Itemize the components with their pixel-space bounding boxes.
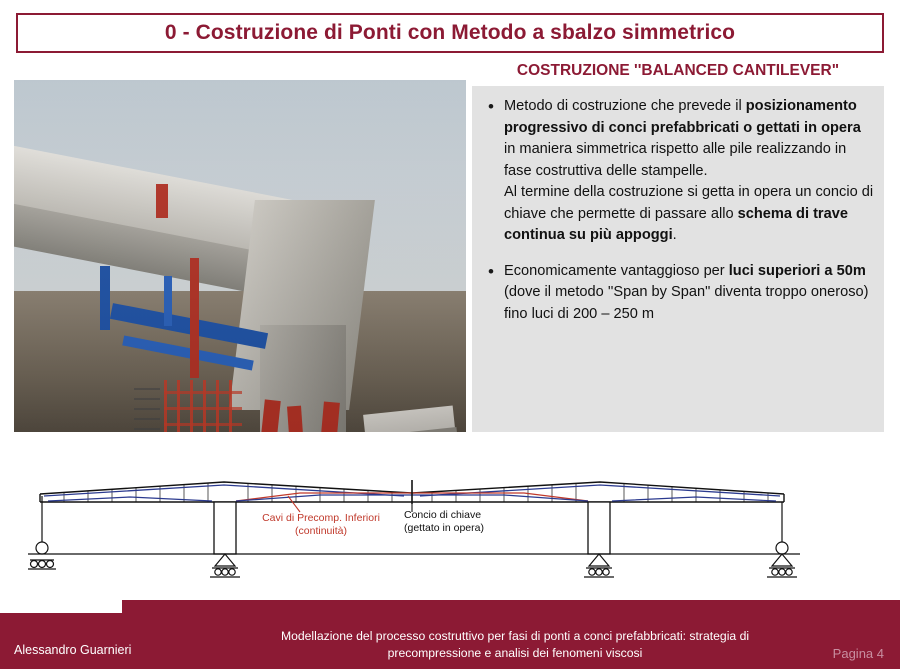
bullet-text: Economicamente vantaggioso per luci supe…	[504, 261, 874, 326]
footer-author-bar	[0, 613, 122, 669]
panel-heading: COSTRUZIONE ''BALANCED CANTILEVER"	[472, 62, 884, 80]
description-panel: •Metodo di costruzione che prevede il po…	[472, 86, 884, 432]
bullet-text-run: Economicamente vantaggioso per	[504, 263, 729, 279]
bullet-text-run: Metodo di costruzione che prevede il	[504, 98, 746, 114]
bullet-text-run: (dove il metodo ''Span by Span" diventa …	[504, 284, 868, 322]
construction-photo	[14, 80, 466, 432]
cable-label-line2: (continuità)	[295, 525, 347, 537]
photo-overlay	[14, 80, 466, 432]
page-title: 0 - Costruzione di Ponti con Metodo a sb…	[165, 21, 735, 45]
bullet-text-emphasis: luci superiori a 50m	[729, 263, 866, 279]
support-pier-left	[210, 554, 240, 577]
footer-author: Alessandro Guarnieri	[14, 643, 131, 657]
key-segment-label-line1: Concio di chiave	[404, 509, 481, 521]
key-segment-label: Concio di chiave (gettato in opera)	[404, 509, 534, 535]
bridge-diagram: Cavi di Precomp. Inferiori (continuità) …	[0, 452, 900, 600]
bullet-dot-icon: •	[478, 261, 504, 326]
cable-leader-line	[288, 496, 300, 512]
support-pier-right	[584, 554, 614, 577]
bullet-text-run: .	[673, 227, 677, 243]
support-right	[767, 502, 797, 577]
slide-title-box: 0 - Costruzione di Ponti con Metodo a sb…	[16, 13, 884, 53]
cable-label: Cavi di Precomp. Inferiori (continuità)	[236, 512, 406, 538]
key-segment-label-line2: (gettato in opera)	[404, 522, 484, 534]
bullet-text: Metodo di costruzione che prevede il pos…	[504, 96, 874, 247]
bullet-item: •Economicamente vantaggioso per luci sup…	[478, 261, 874, 326]
slide: 0 - Costruzione di Ponti con Metodo a sb…	[0, 0, 900, 669]
support-left	[28, 496, 56, 569]
bullet-list: •Metodo di costruzione che prevede il po…	[478, 96, 874, 325]
bullet-dot-icon: •	[478, 96, 504, 247]
footer-caption: Modellazione del processo costruttivo pe…	[250, 628, 780, 661]
page-number: Pagina 4	[833, 646, 884, 661]
cable-label-line1: Cavi di Precomp. Inferiori	[262, 512, 380, 524]
bullet-text-run: in maniera simmetrica rispetto alle pile…	[504, 141, 846, 179]
bullet-item: •Metodo di costruzione che prevede il po…	[478, 96, 874, 247]
